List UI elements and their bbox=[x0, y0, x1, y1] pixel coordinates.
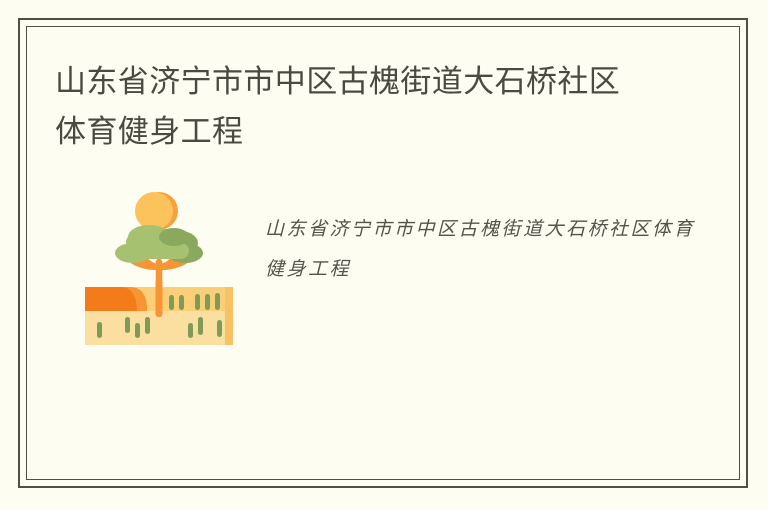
article-block: 山东省济宁市市中区古槐街道大石桥社区体育健身工程 bbox=[55, 187, 711, 347]
tree-canopy-icon bbox=[115, 225, 203, 263]
page-root: 山东省济宁市市中区古槐街道大石桥社区体育健身工程 bbox=[0, 0, 768, 510]
sun-icon bbox=[135, 192, 178, 230]
article-body-text: 山东省济宁市市中区古槐街道大石桥社区体育健身工程 bbox=[265, 209, 695, 289]
landscape-tree-sun-icon bbox=[81, 187, 241, 347]
tree-trunk-icon bbox=[156, 279, 163, 317]
landscape-tree-sun-svg bbox=[81, 187, 241, 347]
content-area: 山东省济宁市市中区古槐街道大石桥社区体育健身工程 bbox=[27, 27, 739, 479]
page-title: 山东省济宁市市中区古槐街道大石桥社区体育健身工程 bbox=[55, 57, 645, 157]
